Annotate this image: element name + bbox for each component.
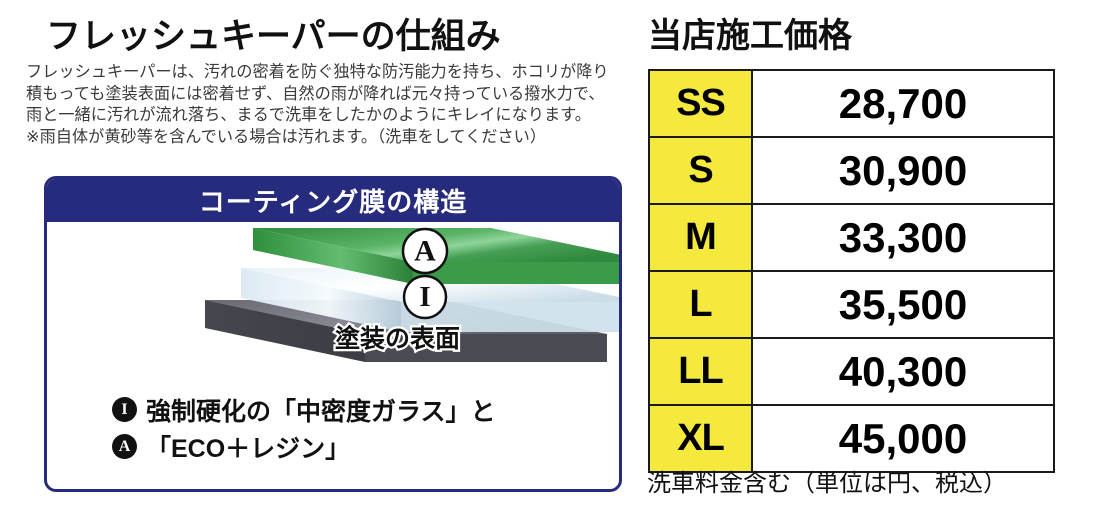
size-cell: M xyxy=(649,204,752,271)
intro-line: 雨と一緒に汚れが流れ落ち、まるで洗車をしたかのようにキレイになります。 xyxy=(26,105,638,127)
table-row: M 33,300 xyxy=(649,204,1054,271)
layer-badge-a: A xyxy=(403,229,447,273)
top-layer-right-face xyxy=(413,262,619,284)
layer-badge-i-label: I xyxy=(419,281,430,313)
legend-label-a: 「ECO＋レジン」 xyxy=(146,429,350,465)
price-table: SS 28,700 S 30,900 M 33,300 L 35,500 LL … xyxy=(648,69,1055,473)
size-cell: XL xyxy=(649,405,752,472)
legend-item-i: I 強制硬化の「中密度ガラス」と xyxy=(112,391,612,428)
price-cell: 35,500 xyxy=(752,271,1054,338)
table-row: L 35,500 xyxy=(649,271,1054,338)
legend-item-a: A 「ECO＋レジン」 xyxy=(112,428,612,465)
price-cell: 33,300 xyxy=(752,204,1054,271)
table-row: S 30,900 xyxy=(649,137,1054,204)
intro-line: 積もっても塗装表面には密着せず、自然の雨が降れば元々持っている撥水力で、 xyxy=(26,84,638,106)
layer-badge-a-label: A xyxy=(414,235,436,268)
intro-line: フレッシュキーパーは、汚れの密着を防ぐ独特な防汚能力を持ち、ホコリが降り xyxy=(26,62,638,84)
legend-label-i: 強制硬化の「中密度ガラス」と xyxy=(146,392,496,428)
page-title: フレッシュキーパーの仕組み xyxy=(46,8,501,59)
base-surface-label: 塗装の表面 xyxy=(335,324,460,353)
coating-layer-diagram: A I 塗装の表面 xyxy=(47,222,619,382)
price-cell: 28,700 xyxy=(752,70,1054,137)
coating-structure-box: コーティング膜の構造 xyxy=(44,176,622,492)
size-cell: LL xyxy=(649,338,752,405)
legend-badge-a-icon: A xyxy=(112,434,137,459)
size-cell: SS xyxy=(649,70,752,137)
layer-badge-i: I xyxy=(404,276,446,318)
price-table-title: 当店施工価格 xyxy=(648,8,852,57)
mechanism-panel: フレッシュキーパーの仕組み フレッシュキーパーは、汚れの密着を防ぐ独特な防汚能力… xyxy=(0,0,640,521)
intro-line: ※雨自体が黄砂等を含んでいる場合は汚れます。（洗車をしてください） xyxy=(26,127,638,149)
price-table-body: SS 28,700 S 30,900 M 33,300 L 35,500 LL … xyxy=(649,70,1054,472)
size-cell: L xyxy=(649,271,752,338)
legend-badge-i-icon: I xyxy=(112,397,137,422)
structure-box-title: コーティング膜の構造 xyxy=(47,179,619,222)
coating-legend: I 強制硬化の「中密度ガラス」と A 「ECO＋レジン」 xyxy=(112,391,612,465)
layer-diagram-svg: A I 塗装の表面 xyxy=(47,222,619,382)
price-note: 洗車料金含む（単位は円、税込） xyxy=(647,463,1007,498)
intro-paragraph: フレッシュキーパーは、汚れの密着を防ぐ独特な防汚能力を持ち、ホコリが降り 積もっ… xyxy=(26,62,638,148)
price-panel: 当店施工価格 SS 28,700 S 30,900 M 33,300 L 35,… xyxy=(640,0,1096,521)
price-cell: 40,300 xyxy=(752,338,1054,405)
table-row: SS 28,700 xyxy=(649,70,1054,137)
price-cell: 45,000 xyxy=(752,405,1054,472)
table-row: XL 45,000 xyxy=(649,405,1054,472)
table-row: LL 40,300 xyxy=(649,338,1054,405)
price-cell: 30,900 xyxy=(752,137,1054,204)
size-cell: S xyxy=(649,137,752,204)
